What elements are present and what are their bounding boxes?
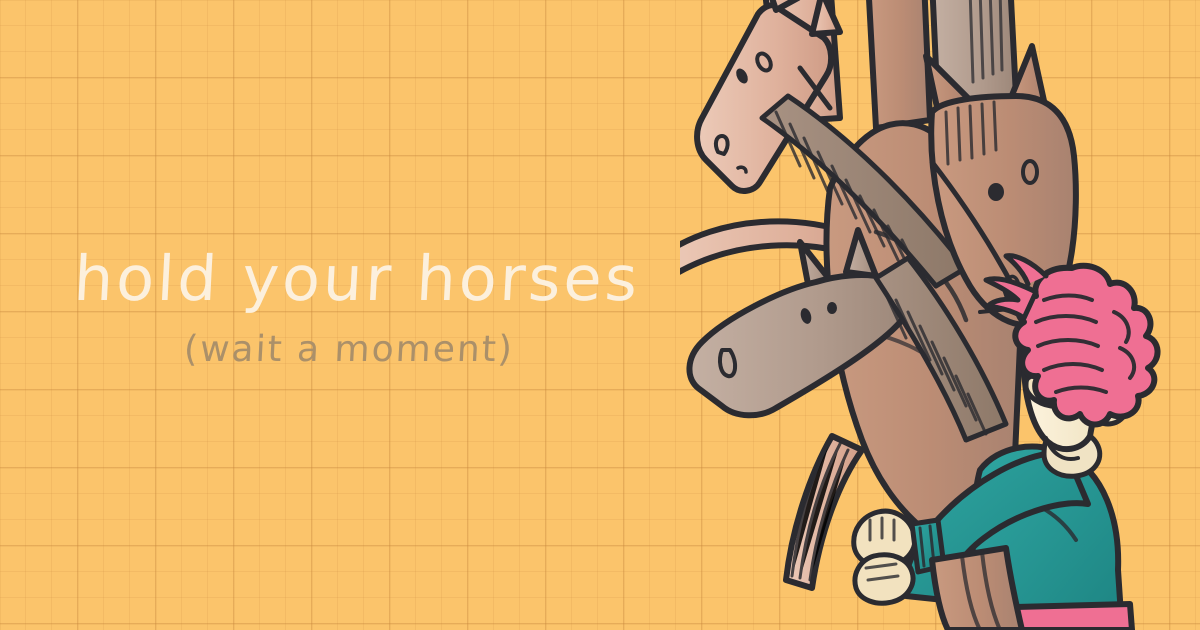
page-subtitle: (wait a moment) [183,332,715,368]
horse-leg-upper-right [868,0,930,128]
text-block: hold your horses (wait a moment) [74,248,714,368]
horse-hind-leg [932,548,1022,630]
page-title: hold your horses [72,248,715,310]
illustration-person-carrying-horses [680,0,1200,630]
idiom-card: hold your horses (wait a moment) [0,0,1200,630]
horse-tail [786,436,862,588]
